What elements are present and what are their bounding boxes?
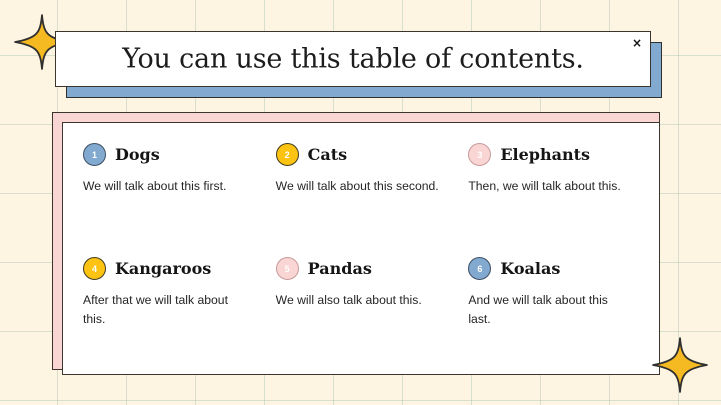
toc-item-description: After that we will talk about this.	[83, 291, 248, 328]
number-badge-3: 3	[468, 143, 491, 166]
toc-item-title: Koalas	[500, 261, 560, 277]
toc-item-elephants[interactable]: 3 Elephants Then, we will talk about thi…	[468, 143, 639, 241]
page-title: You can use this table of contents.	[56, 46, 650, 73]
close-icon[interactable]: ×	[630, 36, 644, 50]
toc-grid: 1 Dogs We will talk about this first. 2 …	[83, 143, 639, 374]
toc-item-description: We will talk about this second.	[276, 177, 441, 196]
toc-item-header: 3 Elephants	[468, 143, 639, 166]
toc-item-header: 6 Koalas	[468, 257, 639, 280]
slide-canvas: You can use this table of contents. × 1 …	[0, 0, 721, 405]
number-badge-6: 6	[468, 257, 491, 280]
toc-item-header: 5 Pandas	[276, 257, 447, 280]
sparkle-star-icon	[652, 337, 708, 393]
toc-item-title: Pandas	[308, 261, 372, 277]
toc-item-koalas[interactable]: 6 Koalas And we will talk about this las…	[468, 257, 639, 374]
toc-item-dogs[interactable]: 1 Dogs We will talk about this first.	[83, 143, 254, 241]
toc-item-cats[interactable]: 2 Cats We will talk about this second.	[276, 143, 447, 241]
content-panel: 1 Dogs We will talk about this first. 2 …	[62, 122, 660, 375]
toc-item-title: Elephants	[500, 147, 590, 163]
toc-item-title: Kangaroos	[115, 261, 211, 277]
toc-item-header: 4 Kangaroos	[83, 257, 254, 280]
toc-item-header: 1 Dogs	[83, 143, 254, 166]
number-badge-2: 2	[276, 143, 299, 166]
toc-item-title: Cats	[308, 147, 348, 163]
number-badge-4: 4	[83, 257, 106, 280]
toc-item-title: Dogs	[115, 147, 160, 163]
number-badge-1: 1	[83, 143, 106, 166]
toc-item-description: We will also talk about this.	[276, 291, 441, 310]
toc-item-description: We will talk about this first.	[83, 177, 248, 196]
toc-item-description: And we will talk about this last.	[468, 291, 633, 328]
toc-item-kangaroos[interactable]: 4 Kangaroos After that we will talk abou…	[83, 257, 254, 374]
toc-item-pandas[interactable]: 5 Pandas We will also talk about this.	[276, 257, 447, 374]
toc-item-header: 2 Cats	[276, 143, 447, 166]
toc-item-description: Then, we will talk about this.	[468, 177, 633, 196]
title-card: You can use this table of contents. ×	[55, 31, 651, 87]
number-badge-5: 5	[276, 257, 299, 280]
